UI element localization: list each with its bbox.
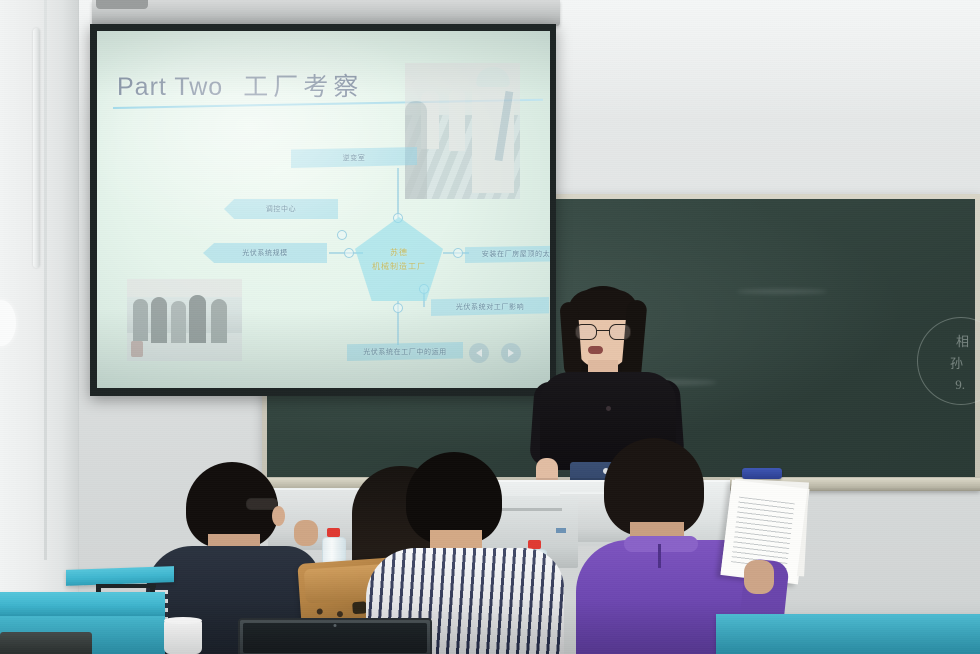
teal-desk-right [716,614,980,654]
chalk-text-top: 相 [956,331,969,350]
audience-purple-collar [624,536,698,552]
laptop-screen [243,623,427,653]
connector-dot-right [453,248,463,258]
chalk-text-date: 9. [955,377,965,393]
connector-top [397,168,399,218]
teal-desk-front-top [0,592,165,616]
paper-cup[interactable] [164,620,202,654]
leather-bag-clasp [352,601,367,614]
slide-node-pv-system-scale: 光伏系统规模 [203,243,327,263]
chevron-left-icon [476,349,482,357]
slide-prev-button[interactable] [469,343,489,363]
camera-icon [334,624,337,627]
slide-title: Part Two工厂考察 [117,67,363,103]
audience-purple-hand [744,560,774,594]
slide-next-button[interactable] [501,343,521,363]
paper-cup-rim [164,617,202,624]
laptop-secondary[interactable] [0,632,92,654]
slide-photo-rooftop-solar-panels [405,63,520,199]
slide-node-control-center: 调控中心 [224,199,338,219]
slide-node-rooftop-pv-panels: 安装在厂房屋顶的太阳能电池板 [465,245,550,263]
presenter-mouth [588,346,603,354]
presenter-glasses [574,324,632,338]
audience-man-navy-ear [272,506,285,526]
chalk-circle-mark [917,317,980,405]
wall-conduit-pipe [33,28,40,268]
connector-dot-left-up [337,230,347,240]
presentation-slide: Part Two工厂考察 [97,31,550,388]
audience-man-navy-hand [294,520,318,546]
center-node-line2: 机械制造工厂 [372,261,426,272]
desk-panel-slot [556,528,566,533]
chalk-smudge [737,289,827,294]
laptop[interactable] [238,618,432,654]
presenter-top-button [606,406,611,411]
slide-node-inverter-room: 逆变室 [291,147,417,168]
teal-desk-crossbar [98,584,156,588]
center-node-line1: 苏德 [390,247,408,258]
projection-screen: Part Two工厂考察 [90,24,556,396]
connector-dot-left [344,248,354,258]
chalk-text-mid: 孙 [950,353,963,372]
slide-photo-group-visit [127,279,242,361]
paper-handout-text-lines [731,497,795,569]
slide-center-node-factory: 苏德 机械制造工厂 [355,217,443,301]
connector-dot-bottom [393,303,403,313]
slide-node-pv-application-in-factory: 光伏系统在工厂中的运用 [347,342,463,361]
chevron-right-icon [508,349,514,357]
blackboard-eraser[interactable] [742,468,782,479]
projection-screen-surface: Part Two工厂考察 [97,31,550,388]
classroom-presentation-scene: 相 孙 9. Part Two工厂考察 [0,0,980,654]
slide-title-cn: 工厂考察 [243,73,363,101]
audience-purple-placket [658,544,661,568]
slide-title-en: Part Two [117,73,223,101]
projector-screen-roller [92,0,560,26]
projector-screen-bracket [96,0,148,9]
pillar-edge [44,0,47,560]
